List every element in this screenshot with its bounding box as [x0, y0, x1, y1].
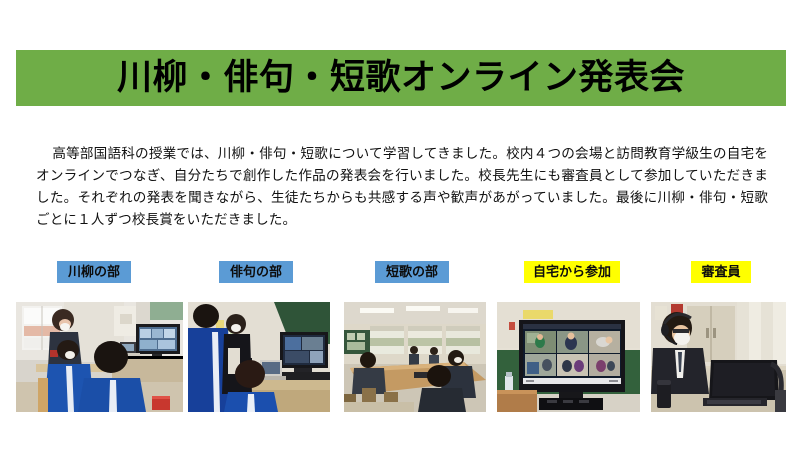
- caption-label-senryu: 川柳の部: [57, 261, 131, 283]
- photo-senryu-classroom: [16, 302, 183, 412]
- photo-online-participants-monitor: [497, 302, 640, 412]
- photo-online-participants-monitor-image: [497, 302, 640, 412]
- caption-label-from-home: 自宅から参加: [524, 261, 620, 283]
- photo-principal-judge-desk-image: [651, 302, 786, 412]
- body-paragraph: 高等部国語科の授業では、川柳・俳句・短歌について学習してきました。校内４つの会場…: [36, 143, 768, 231]
- caption-label-tanka: 短歌の部: [375, 261, 449, 283]
- photo-haiku-classroom: [188, 302, 330, 412]
- caption-label-judge: 審査員: [691, 261, 751, 283]
- photo-senryu-classroom-image: [16, 302, 183, 412]
- slide-page: 川柳・俳句・短歌オンライン発表会 高等部国語科の授業では、川柳・俳句・短歌につい…: [0, 0, 800, 450]
- photo-principal-judge-desk: [651, 302, 786, 412]
- photo-tanka-meetingroom: [344, 302, 486, 412]
- photo-haiku-classroom-image: [188, 302, 330, 412]
- title-banner: 川柳・俳句・短歌オンライン発表会: [16, 50, 786, 106]
- photo-tanka-meetingroom-image: [344, 302, 486, 412]
- page-title: 川柳・俳句・短歌オンライン発表会: [117, 61, 685, 96]
- caption-label-haiku: 俳句の部: [219, 261, 293, 283]
